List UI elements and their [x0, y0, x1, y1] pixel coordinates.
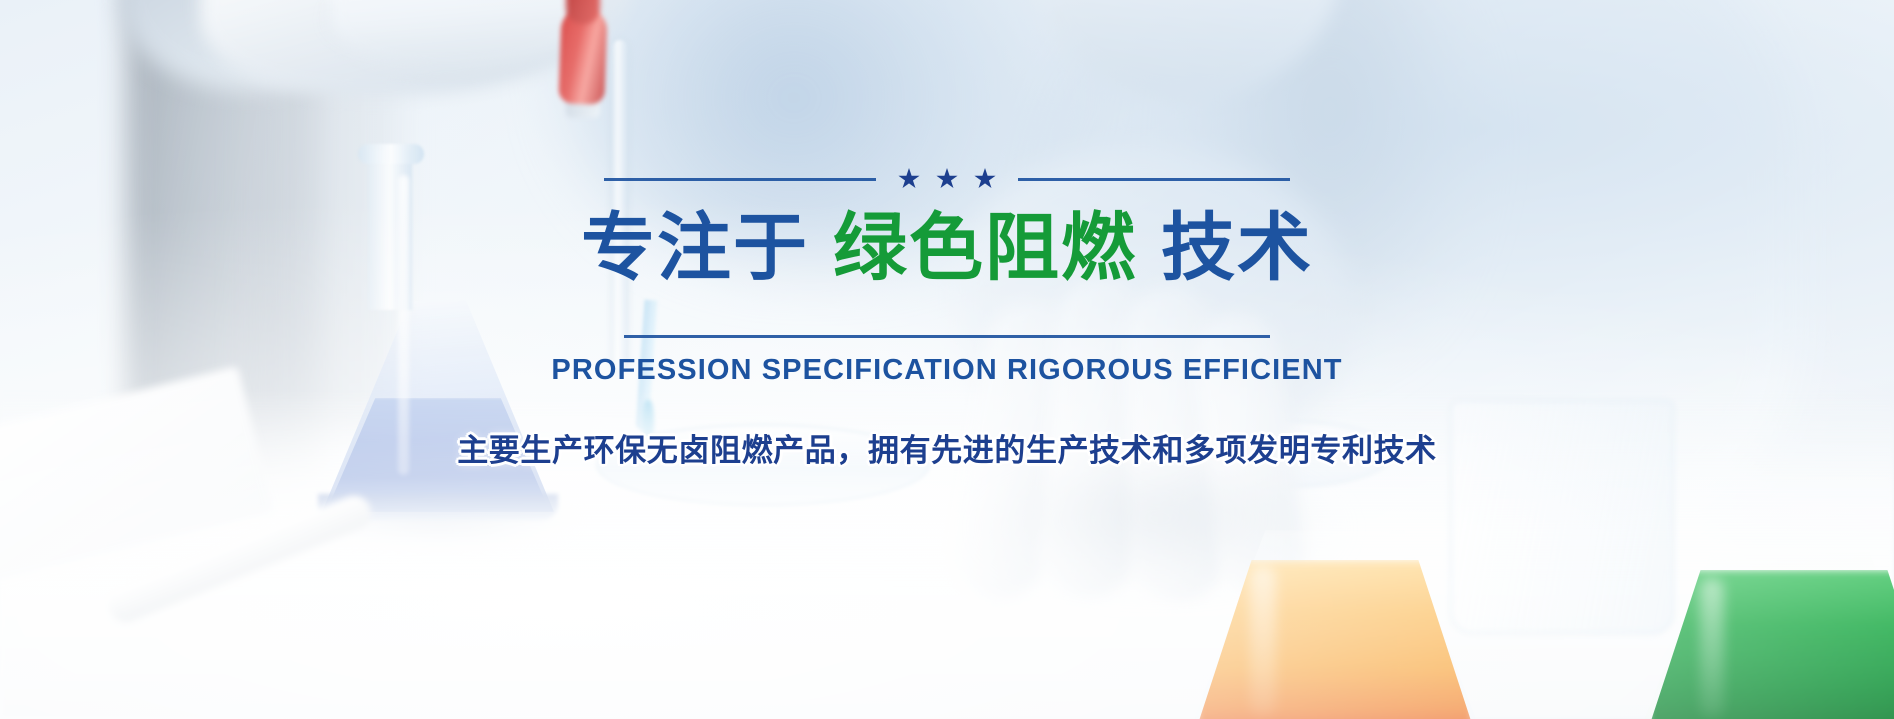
headline-part-1: 专注于 [581, 211, 809, 285]
star-icon [936, 168, 958, 190]
gloved-hand-right-icon [1040, 0, 1340, 100]
flask-base-icon [318, 494, 558, 520]
pipette-bulb-top-icon [566, 0, 600, 24]
orange-liquid-icon [1196, 560, 1474, 719]
glove-cuff-icon [120, 0, 370, 90]
pen-icon [104, 491, 376, 627]
star-icon [974, 168, 996, 190]
star-icon [898, 168, 920, 190]
divider-line-right [1018, 178, 1290, 181]
hand-shadow [980, 470, 1340, 590]
pipette-bulb-icon [558, 7, 607, 105]
green-flask-highlight [1700, 578, 1724, 718]
orange-flask-highlight [1250, 566, 1276, 716]
coat-button-icon [1058, 0, 1084, 26]
pipette-collar-icon [566, 96, 600, 118]
headline: 专注于绿色阻燃技术 [0, 206, 1894, 285]
subtitle: PROFESSION SPECIFICATION RIGOROUS EFFICI… [0, 354, 1894, 387]
green-liquid-icon [1648, 570, 1894, 719]
divider-line-bottom [624, 335, 1270, 338]
star-group [876, 168, 1018, 190]
hero-text-block: 专注于绿色阻燃技术 PROFESSION SPECIFICATION RIGOR… [0, 168, 1894, 470]
tagline: 主要生产环保无卤阻燃产品，拥有先进的生产技术和多项发明专利技术 [0, 425, 1894, 470]
flask-shadow [300, 500, 580, 546]
decorative-divider [0, 168, 1894, 190]
gloved-fingers-icon [330, 0, 590, 70]
headline-part-3: 技术 [1161, 211, 1313, 285]
flask-lip-icon [358, 144, 424, 164]
erlenmeyer-flask-orange-icon [1190, 530, 1480, 719]
glove-shadow [330, 0, 540, 50]
hero-banner: 专注于绿色阻燃技术 PROFESSION SPECIFICATION RIGOR… [0, 0, 1894, 719]
divider-line-left [604, 178, 876, 181]
headline-part-2: 绿色阻燃 [833, 211, 1137, 285]
gloved-hand-icon [200, 0, 630, 95]
erlenmeyer-flask-green-icon [1640, 548, 1894, 719]
